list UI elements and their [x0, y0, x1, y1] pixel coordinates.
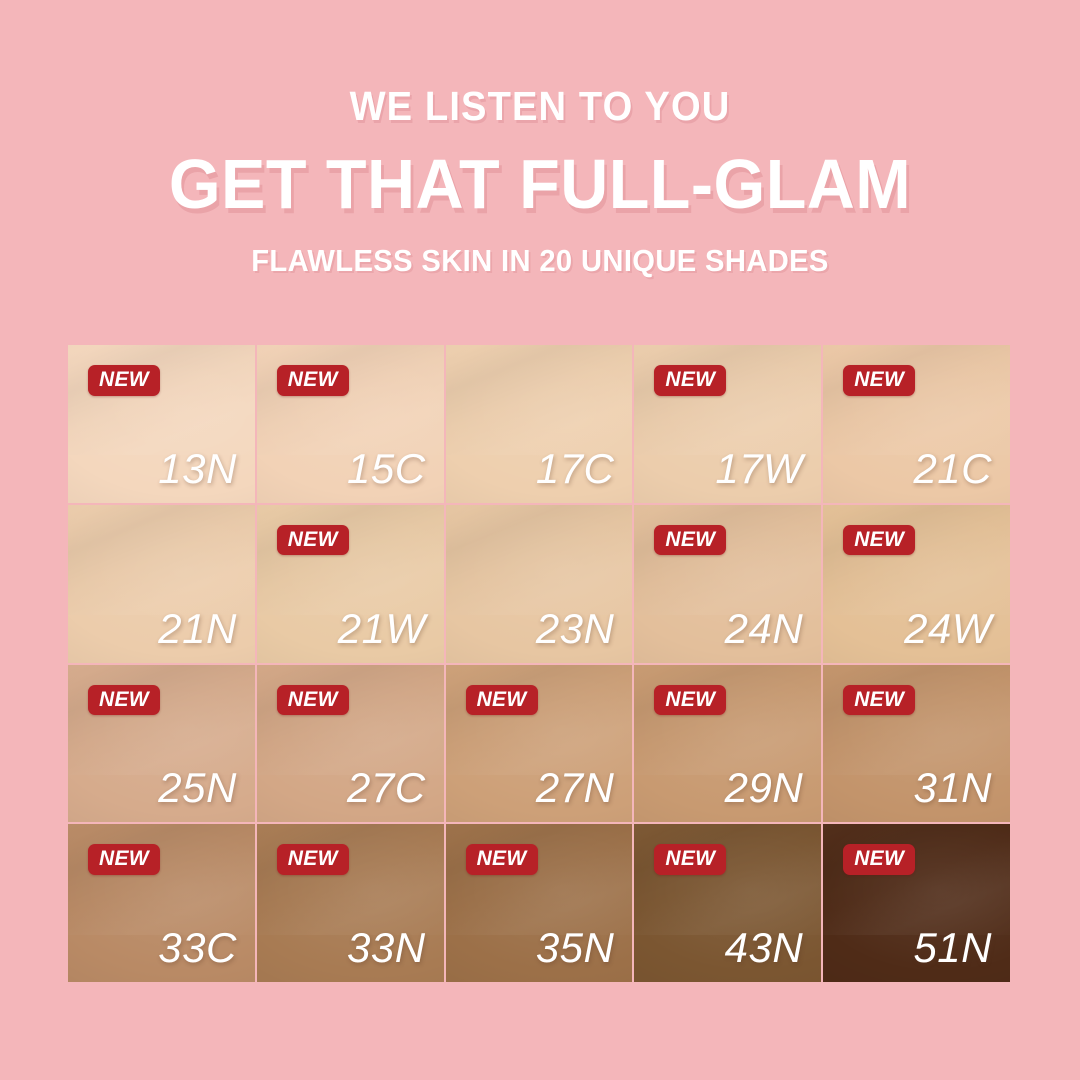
- new-badge: NEW: [843, 525, 915, 556]
- new-badge: NEW: [654, 844, 726, 875]
- shade-code-label: 25N: [158, 767, 237, 809]
- shade-swatch[interactable]: NEW35N: [446, 824, 633, 982]
- shade-code-label: 31N: [913, 767, 992, 809]
- shade-code-label: 21N: [158, 608, 237, 650]
- shade-code-label: 27N: [536, 767, 615, 809]
- shade-swatch[interactable]: NEW25N: [68, 665, 255, 823]
- new-badge: NEW: [88, 365, 160, 396]
- shade-code-label: 21C: [913, 448, 992, 490]
- new-badge: NEW: [843, 685, 915, 716]
- shade-swatch[interactable]: NEW24N: [634, 505, 821, 663]
- new-badge: NEW: [88, 685, 160, 716]
- header-kicker: WE LISTEN TO YOU: [38, 86, 1042, 127]
- shade-swatch[interactable]: NEW17W: [634, 345, 821, 503]
- new-badge: NEW: [277, 685, 349, 716]
- shade-code-label: 29N: [725, 767, 804, 809]
- new-badge: NEW: [654, 685, 726, 716]
- header-block: WE LISTEN TO YOU GET THAT FULL-GLAM FLAW…: [0, 0, 1080, 276]
- shade-code-label: 33C: [158, 927, 237, 969]
- shade-swatch[interactable]: 21N: [68, 505, 255, 663]
- shade-code-label: 23N: [536, 608, 615, 650]
- page-title: GET THAT FULL-GLAM: [27, 149, 1053, 219]
- new-badge: NEW: [277, 365, 349, 396]
- shade-code-label: 15C: [347, 448, 426, 490]
- shade-swatch[interactable]: NEW21W: [257, 505, 444, 663]
- shade-swatch[interactable]: NEW51N: [823, 824, 1010, 982]
- shade-swatch[interactable]: 23N: [446, 505, 633, 663]
- new-badge: NEW: [88, 844, 160, 875]
- new-badge: NEW: [654, 525, 726, 556]
- shade-swatch[interactable]: NEW24W: [823, 505, 1010, 663]
- shade-code-label: 21W: [338, 608, 426, 650]
- new-badge: NEW: [843, 365, 915, 396]
- shade-code-label: 24W: [904, 608, 992, 650]
- shade-code-label: 24N: [725, 608, 804, 650]
- shade-code-label: 27C: [347, 767, 426, 809]
- shade-code-label: 17W: [715, 448, 803, 490]
- shade-swatch[interactable]: NEW21C: [823, 345, 1010, 503]
- shade-swatch[interactable]: NEW15C: [257, 345, 444, 503]
- shade-code-label: 51N: [913, 927, 992, 969]
- shade-code-label: 13N: [158, 448, 237, 490]
- shade-swatch[interactable]: NEW33C: [68, 824, 255, 982]
- shade-swatch[interactable]: NEW29N: [634, 665, 821, 823]
- new-badge: NEW: [466, 844, 538, 875]
- new-badge: NEW: [466, 685, 538, 716]
- new-badge: NEW: [277, 844, 349, 875]
- new-badge: NEW: [277, 525, 349, 556]
- shade-swatch[interactable]: NEW33N: [257, 824, 444, 982]
- shade-swatch-grid: NEW13NNEW15C17CNEW17WNEW21C21NNEW21W23NN…: [68, 345, 1010, 982]
- shade-swatch[interactable]: NEW43N: [634, 824, 821, 982]
- shade-code-label: 43N: [725, 927, 804, 969]
- header-subline: FLAWLESS SKIN IN 20 UNIQUE SHADES: [32, 245, 1047, 276]
- shade-swatch[interactable]: NEW27N: [446, 665, 633, 823]
- shade-swatch[interactable]: NEW31N: [823, 665, 1010, 823]
- shade-code-label: 33N: [347, 927, 426, 969]
- shade-swatch[interactable]: 17C: [446, 345, 633, 503]
- shade-code-label: 17C: [536, 448, 615, 490]
- new-badge: NEW: [843, 844, 915, 875]
- shade-swatch[interactable]: NEW27C: [257, 665, 444, 823]
- new-badge: NEW: [654, 365, 726, 396]
- shade-code-label: 35N: [536, 927, 615, 969]
- shade-swatch[interactable]: NEW13N: [68, 345, 255, 503]
